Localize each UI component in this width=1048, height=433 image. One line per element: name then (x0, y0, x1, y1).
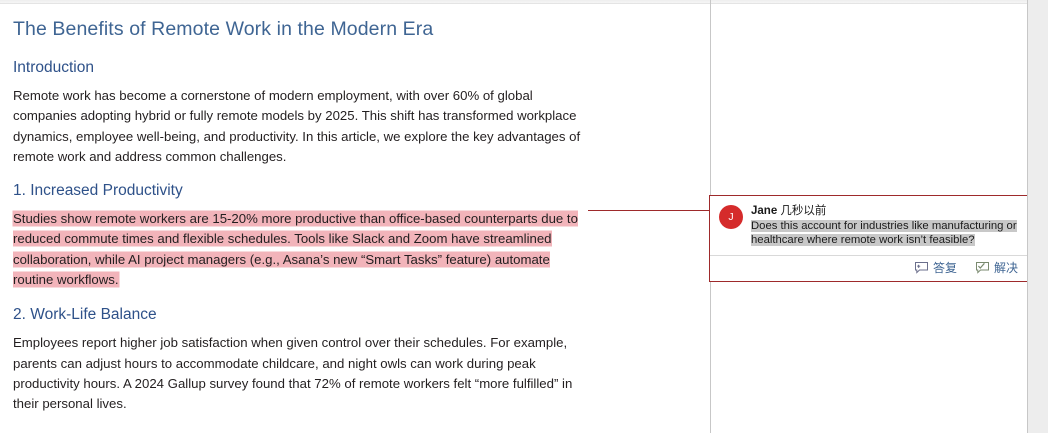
comment-anchor-connector-line (588, 210, 711, 211)
avatar[interactable]: J (719, 205, 743, 229)
comment-text[interactable]: Does this account for industries like ma… (751, 220, 1017, 246)
section-heading-work-life-balance: 2. Work-Life Balance (13, 304, 692, 325)
document-page[interactable]: The Benefits of Remote Work in the Moder… (0, 4, 710, 433)
commented-text-highlight[interactable]: Studies show remote workers are 15-20% m… (13, 211, 578, 287)
resolve-button-label: 解决 (994, 261, 1018, 275)
spacer (13, 290, 692, 304)
section-paragraph-increased-productivity[interactable]: Studies show remote workers are 15-20% m… (13, 209, 591, 290)
section-paragraph-work-life-balance[interactable]: Employees report higher job satisfaction… (13, 333, 591, 414)
document-title: The Benefits of Remote Work in the Moder… (13, 16, 692, 42)
comment-text-wrapper[interactable]: Does this account for industries like ma… (751, 219, 1019, 247)
comment-actions: 答复 解决 (710, 255, 1027, 281)
section-paragraph-introduction[interactable]: Remote work has become a cornerstone of … (13, 86, 591, 167)
section-heading-introduction: Introduction (13, 57, 692, 78)
comment-body: J Jane 几秒以前 Does this account for indust… (710, 196, 1027, 255)
comment-meta: Jane 几秒以前 (751, 204, 1019, 218)
comment-card[interactable]: J Jane 几秒以前 Does this account for indust… (709, 195, 1028, 282)
document-editor-window: The Benefits of Remote Work in the Moder… (0, 0, 1048, 433)
comment-author: Jane (751, 205, 777, 217)
reply-button[interactable]: 答复 (914, 261, 957, 275)
resolve-button[interactable]: 解决 (975, 261, 1018, 275)
spacer (13, 167, 692, 180)
section-heading-increased-productivity: 1. Increased Productivity (13, 180, 692, 201)
reply-bubble-icon (914, 261, 929, 275)
reply-button-label: 答复 (933, 261, 957, 275)
comment-content: Jane 几秒以前 Does this account for industri… (751, 204, 1019, 247)
comment-timestamp: 几秒以前 (780, 205, 826, 217)
vertical-scrollbar[interactable] (1028, 0, 1048, 433)
resolve-bubble-check-icon (975, 261, 990, 275)
